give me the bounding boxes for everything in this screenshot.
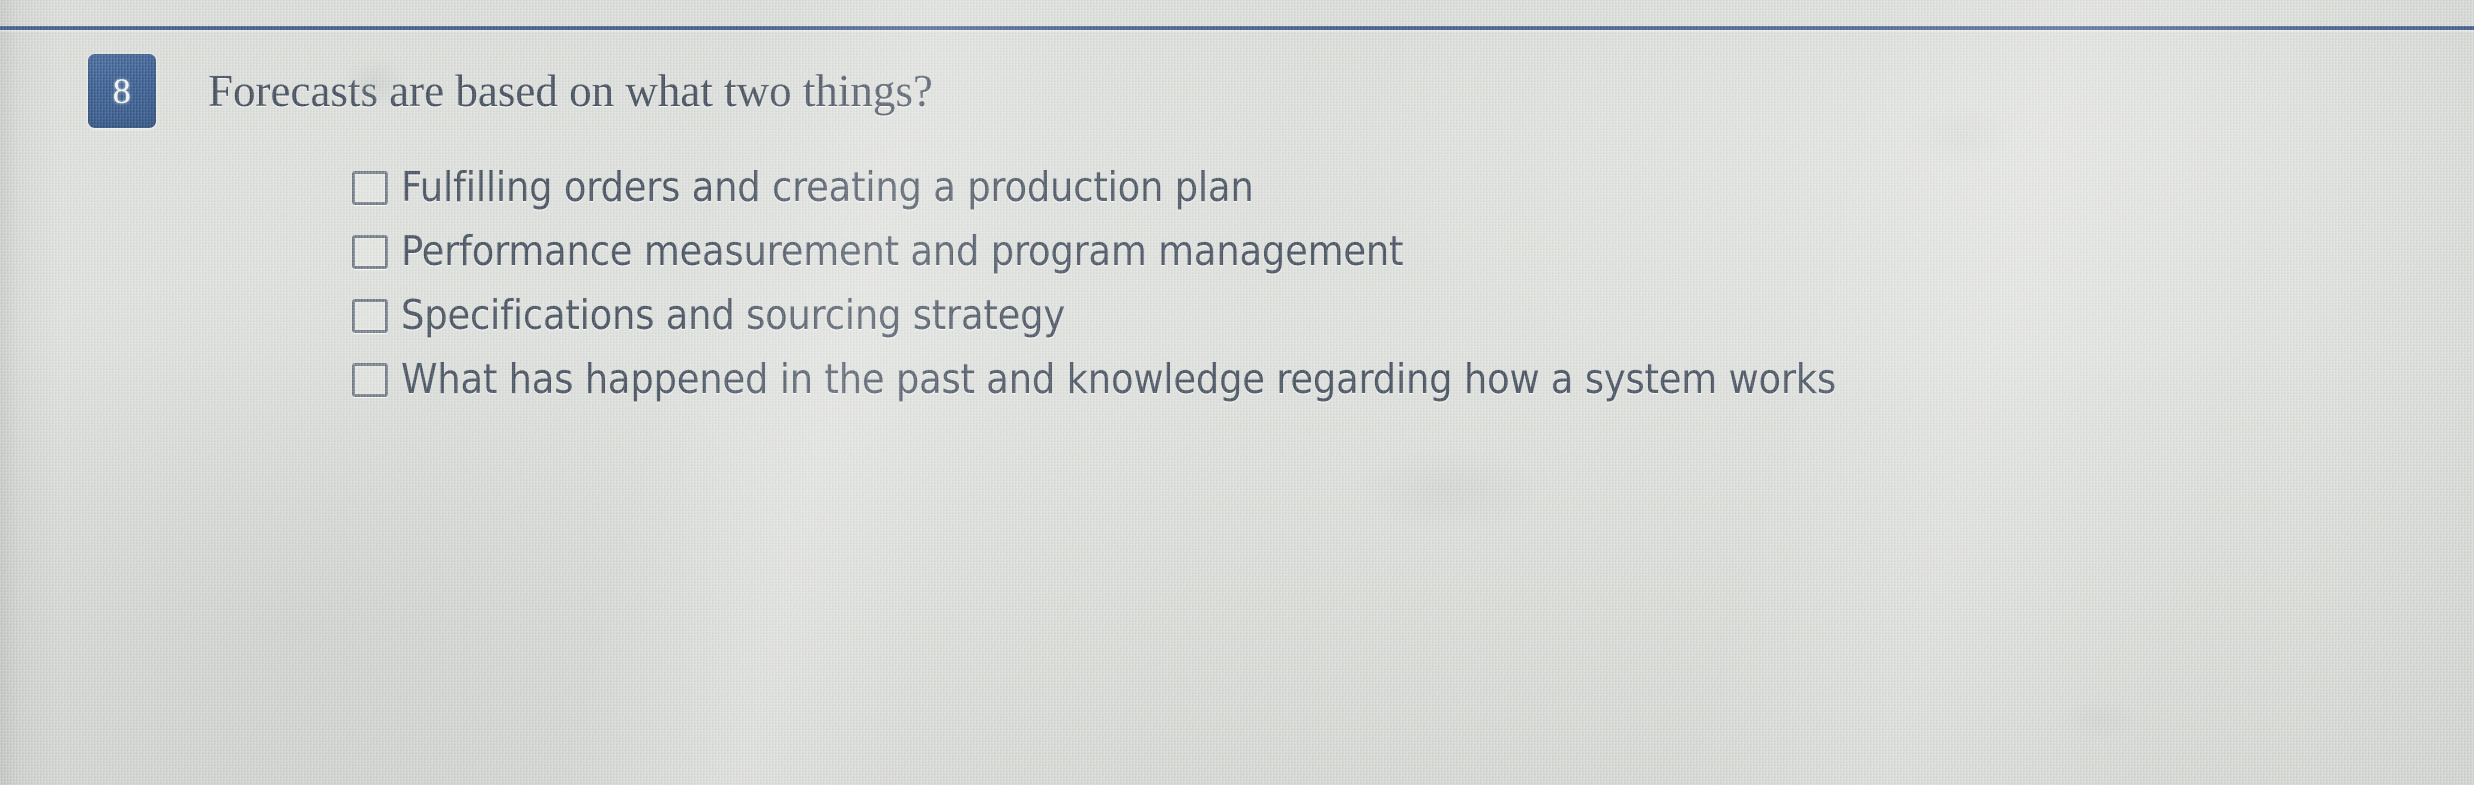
question-number-badge: 8 bbox=[88, 54, 156, 128]
question-card: 8 Forecasts are based on what two things… bbox=[0, 30, 2474, 785]
checkbox-icon-4[interactable] bbox=[352, 363, 388, 397]
question-header: 8 Forecasts are based on what two things… bbox=[88, 54, 933, 128]
answer-option-label-2: Performance measurement and program mana… bbox=[401, 227, 1403, 275]
quiz-screenshot: 8 Forecasts are based on what two things… bbox=[0, 0, 2474, 785]
checkbox-icon-2[interactable] bbox=[352, 235, 388, 269]
answer-option-label-4: What has happened in the past and knowle… bbox=[401, 355, 1836, 403]
checkbox-icon-1[interactable] bbox=[352, 171, 388, 205]
answer-options-list: Fulfilling orders and creating a product… bbox=[352, 155, 1836, 411]
checkbox-icon-3[interactable] bbox=[352, 299, 388, 333]
answer-option-2[interactable]: Performance measurement and program mana… bbox=[352, 219, 1836, 283]
answer-option-4[interactable]: What has happened in the past and knowle… bbox=[352, 347, 1836, 411]
answer-option-1[interactable]: Fulfilling orders and creating a product… bbox=[352, 155, 1836, 219]
question-prompt: Forecasts are based on what two things? bbox=[208, 54, 933, 128]
answer-option-label-1: Fulfilling orders and creating a product… bbox=[401, 163, 1254, 211]
answer-option-label-3: Specifications and sourcing strategy bbox=[401, 291, 1065, 339]
answer-option-3[interactable]: Specifications and sourcing strategy bbox=[352, 283, 1836, 347]
